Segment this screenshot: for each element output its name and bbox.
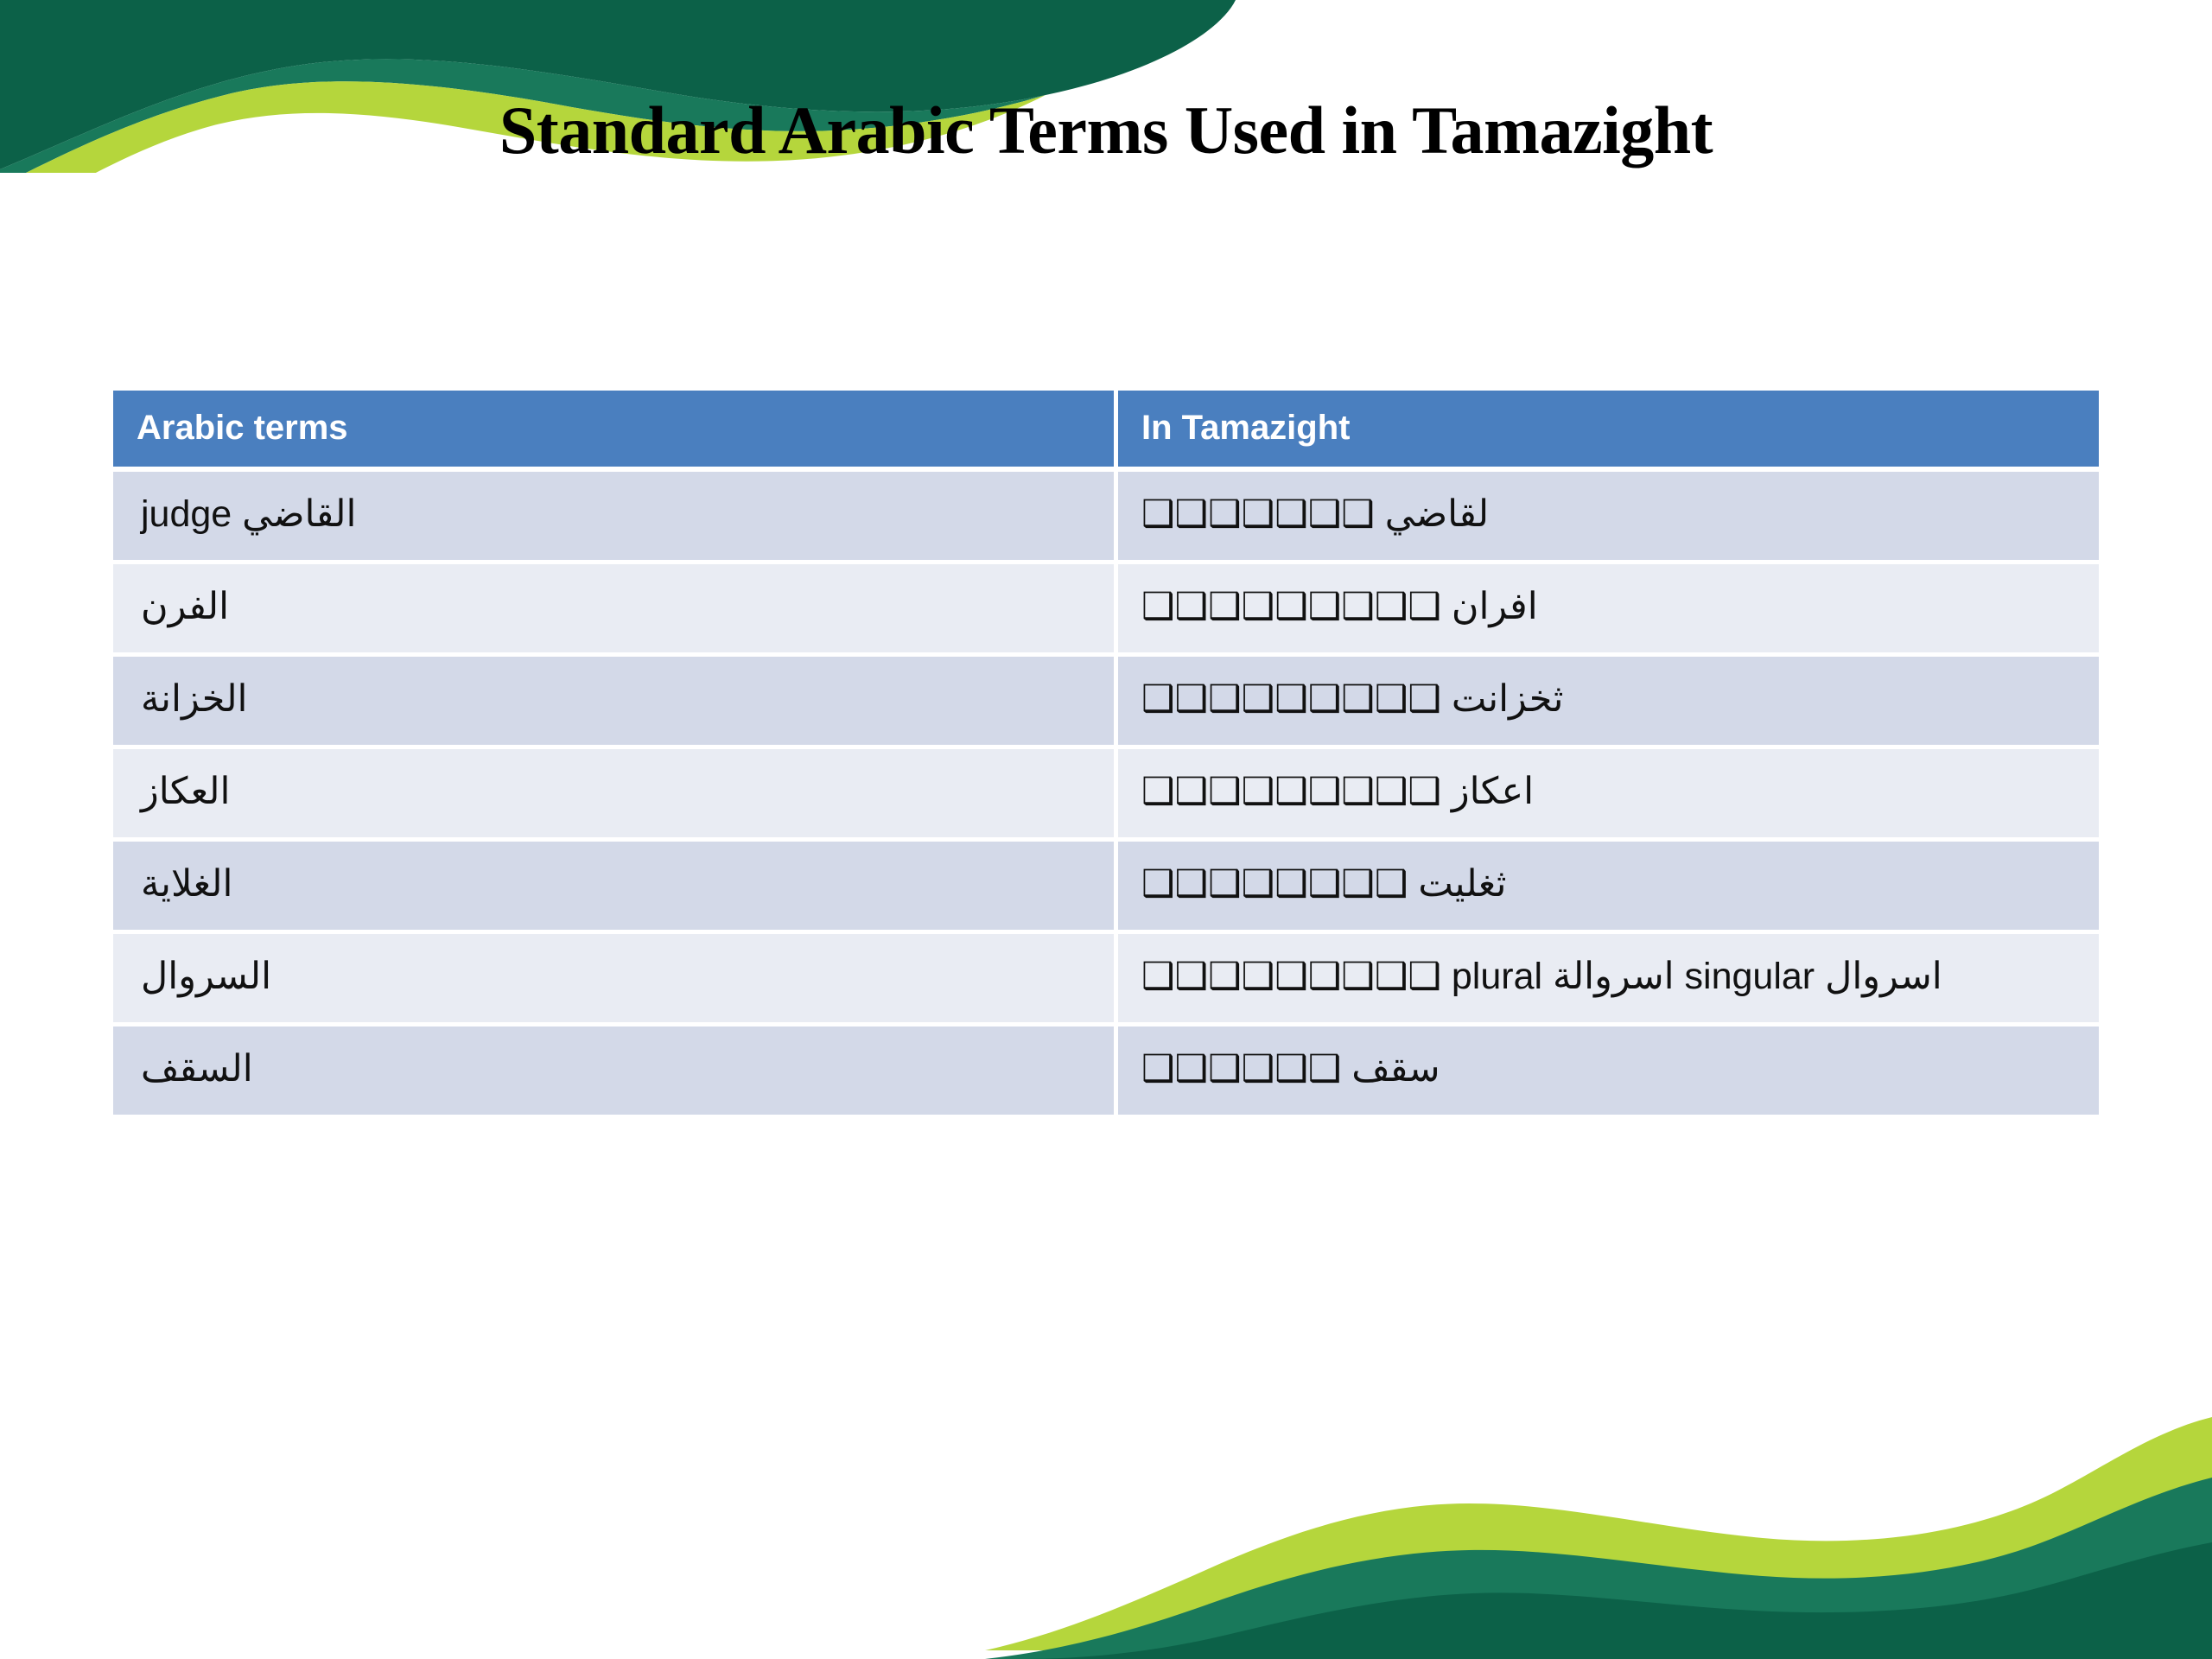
cell-tamazight-term: افران ❑❑❑❑❑❑❑❑❑ xyxy=(1118,564,2099,657)
tamazight-term-text: لقاضي ❑❑❑❑❑❑❑ xyxy=(1141,493,1489,536)
cell-tamazight-term: ثخزانت ❑❑❑❑❑❑❑❑❑ xyxy=(1118,657,2099,749)
table-header-row: Arabic terms In Tamazight xyxy=(113,391,2099,472)
table-row: الغلاية ثغليت ❑❑❑❑❑❑❑❑ xyxy=(113,842,2099,934)
tamazight-term-text: ثخزانت ❑❑❑❑❑❑❑❑❑ xyxy=(1141,677,1563,721)
arabic-term-text: الخزانة xyxy=(141,677,248,721)
arabic-term-text: الفرن xyxy=(141,585,229,628)
table-body: القاضي judge لقاضي ❑❑❑❑❑❑❑ الفرن افران ❑… xyxy=(113,472,2099,1115)
arabic-term-text: القاضي judge xyxy=(141,493,356,536)
table-row: السقف سقف ❑❑❑❑❑❑ xyxy=(113,1027,2099,1115)
tamazight-term-text: اسروال singular اسروالة plural ❑❑❑❑❑❑❑❑❑ xyxy=(1141,955,1942,998)
cell-tamazight-term: سقف ❑❑❑❑❑❑ xyxy=(1118,1027,2099,1115)
arabic-tamazight-table: Arabic terms In Tamazight القاضي judge ل… xyxy=(113,391,2099,1115)
column-header-in-tamazight: In Tamazight xyxy=(1118,391,2099,472)
tamazight-term-text: ثغليت ❑❑❑❑❑❑❑❑ xyxy=(1141,862,1506,906)
bottom-wave-lime-shape xyxy=(985,1417,2212,1650)
cell-arabic-term: الخزانة xyxy=(113,657,1118,749)
table-row: الخزانة ثخزانت ❑❑❑❑❑❑❑❑❑ xyxy=(113,657,2099,749)
table-row: العكاز اعكاز ❑❑❑❑❑❑❑❑❑ xyxy=(113,749,2099,842)
cell-arabic-term: العكاز xyxy=(113,749,1118,842)
arabic-term-text: السقف xyxy=(141,1047,253,1090)
cell-tamazight-term: اسروال singular اسروالة plural ❑❑❑❑❑❑❑❑❑ xyxy=(1118,934,2099,1027)
cell-arabic-term: السروال xyxy=(113,934,1118,1027)
table-row: الفرن افران ❑❑❑❑❑❑❑❑❑ xyxy=(113,564,2099,657)
cell-arabic-term: السقف xyxy=(113,1027,1118,1115)
tamazight-term-text: افران ❑❑❑❑❑❑❑❑❑ xyxy=(1141,585,1538,628)
bottom-green-wave xyxy=(0,1382,2212,1659)
cell-arabic-term: الغلاية xyxy=(113,842,1118,934)
bottom-wave-dark-shape xyxy=(1024,1542,2212,1659)
arabic-term-text: الغلاية xyxy=(141,862,232,906)
cell-tamazight-term: لقاضي ❑❑❑❑❑❑❑ xyxy=(1118,472,2099,564)
table-row: القاضي judge لقاضي ❑❑❑❑❑❑❑ xyxy=(113,472,2099,564)
terms-table-container: Arabic terms In Tamazight القاضي judge ل… xyxy=(113,391,2099,1115)
arabic-term-text: العكاز xyxy=(141,770,230,813)
cell-arabic-term: الفرن xyxy=(113,564,1118,657)
table-row: السروال اسروال singular اسروالة plural ❑… xyxy=(113,934,2099,1027)
cell-tamazight-term: اعكاز ❑❑❑❑❑❑❑❑❑ xyxy=(1118,749,2099,842)
tamazight-term-text: سقف ❑❑❑❑❑❑ xyxy=(1141,1047,1440,1090)
tamazight-term-text: اعكاز ❑❑❑❑❑❑❑❑❑ xyxy=(1141,770,1534,813)
page-title: Standard Arabic Terms Used in Tamazight xyxy=(0,93,2212,168)
bottom-wave-mid-shape xyxy=(985,1478,2212,1659)
arabic-term-text: السروال xyxy=(141,955,271,998)
cell-tamazight-term: ثغليت ❑❑❑❑❑❑❑❑ xyxy=(1118,842,2099,934)
column-header-arabic-terms: Arabic terms xyxy=(113,391,1118,472)
cell-arabic-term: القاضي judge xyxy=(113,472,1118,564)
